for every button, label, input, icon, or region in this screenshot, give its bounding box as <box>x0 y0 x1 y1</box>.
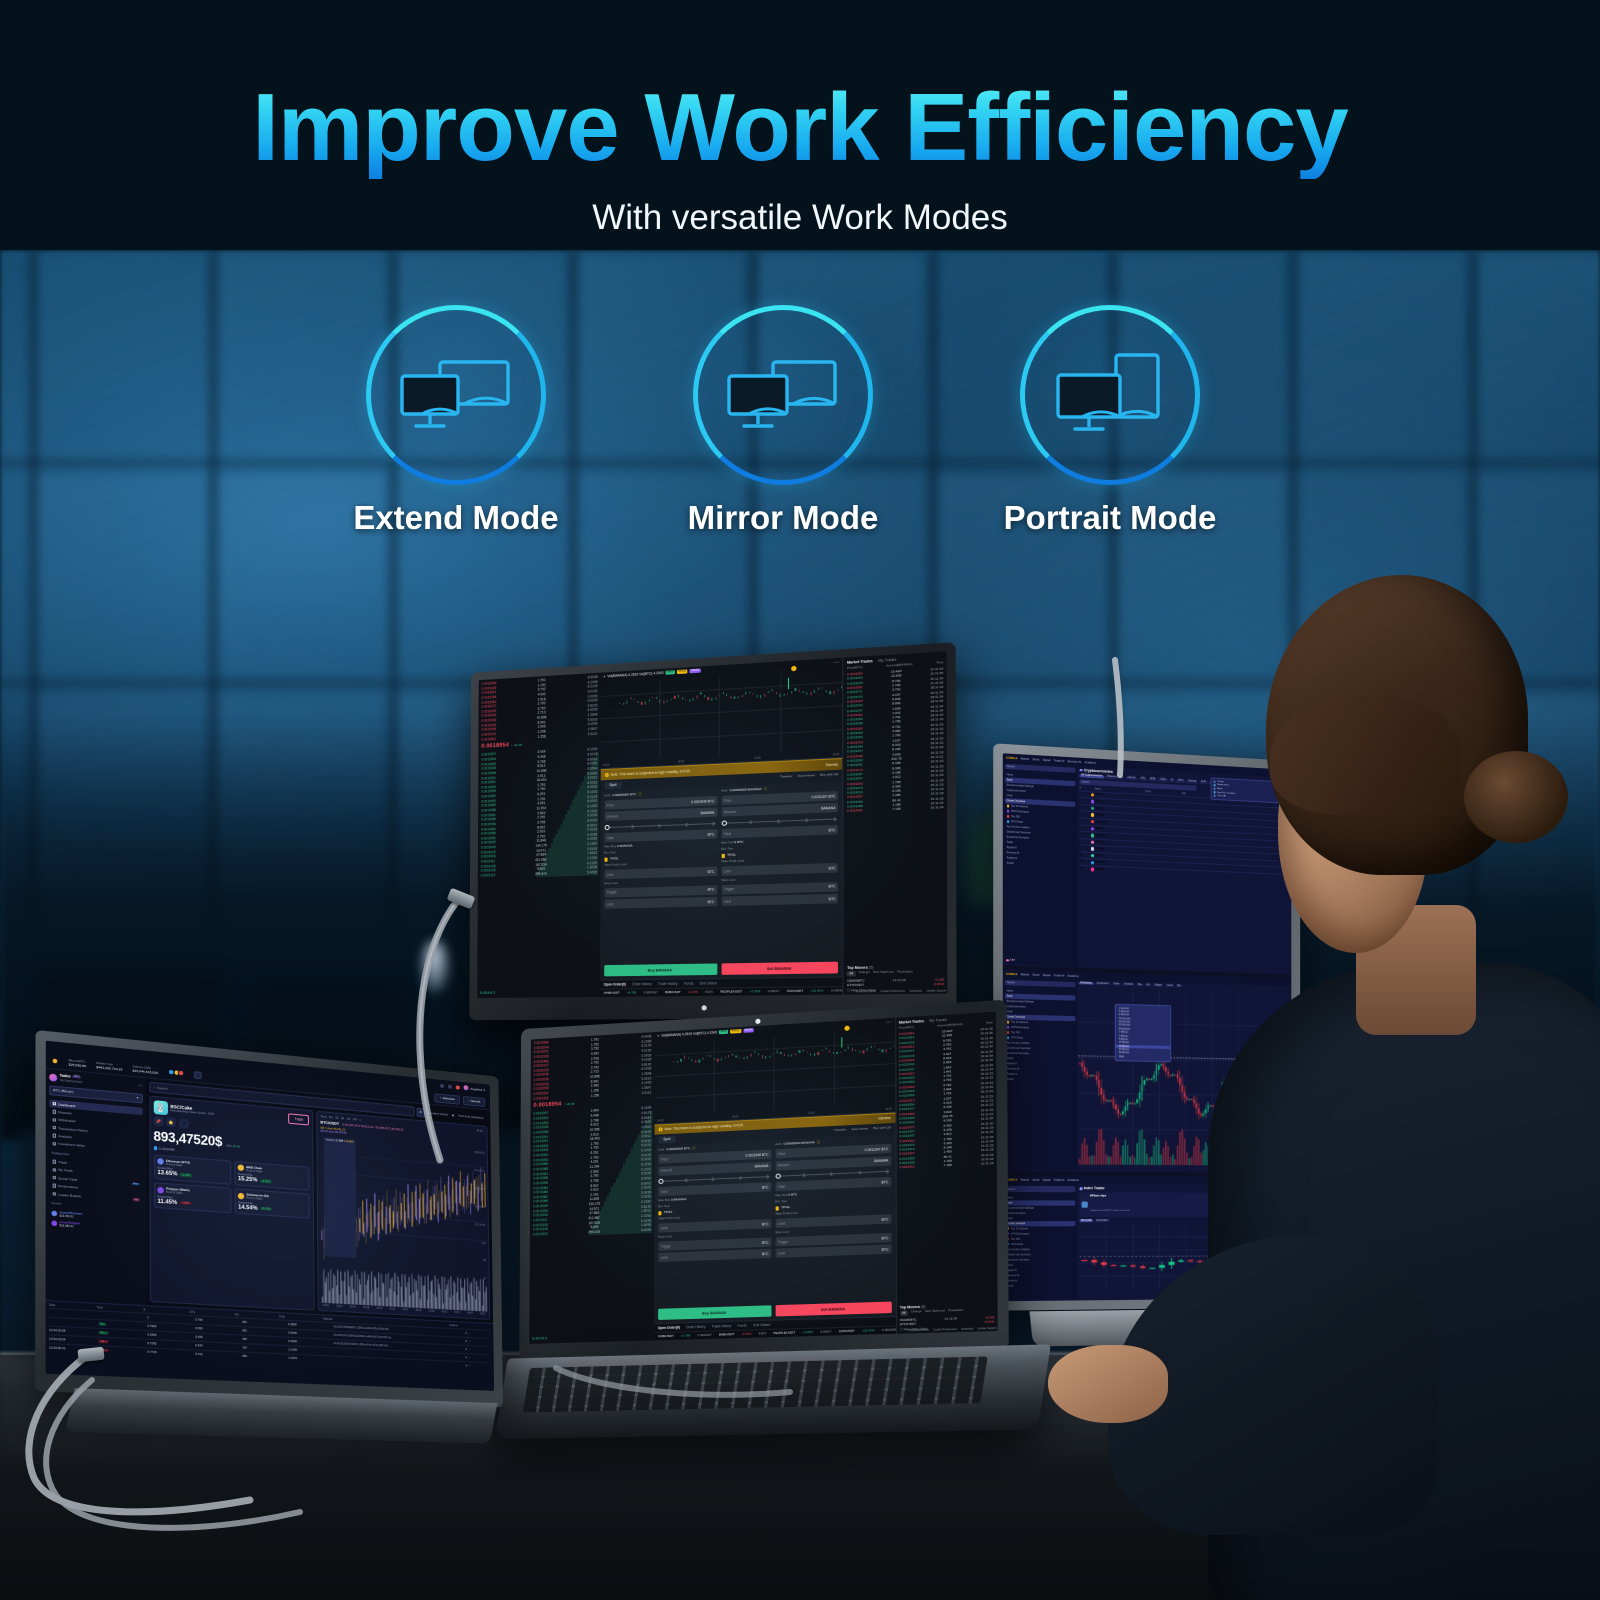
order-field[interactable]: Limit BTC <box>604 867 717 880</box>
warning-icon: ! <box>604 773 608 777</box>
avatar <box>463 1085 468 1091</box>
withdraw-icon: ↑ <box>440 1096 442 1100</box>
star-icon[interactable]: ⭐ <box>166 1117 176 1127</box>
index-icon <box>1080 1187 1083 1190</box>
more-icon[interactable]: ••• <box>139 1083 143 1088</box>
pm-chart-chip[interactable]: All Markets <box>1078 982 1093 985</box>
volume-pill: Volume (2) 608 1.4%(M) <box>324 1137 357 1258</box>
footer-tab[interactable]: Open Order(0) <box>658 1326 680 1331</box>
buy-submit-button[interactable]: Buy BANANA <box>604 964 717 977</box>
sell-order-panel: Avbl0.00000000 BANANAⓘ Price0.0011347 BT… <box>775 1137 891 1316</box>
pm-menu-stock[interactable]: Stock <box>1032 758 1039 762</box>
tab-autoinvest[interactable]: Auto-Invest <box>798 774 815 779</box>
pm-trader-sub: Cryptocurrency AI BTC // Announcements <box>1090 1210 1130 1212</box>
portable-monitor-bezel: Angelina ▾ Bitcoin/BTC $25,550.60 <box>35 1030 503 1407</box>
pm-menu-servicesai[interactable]: Services AI <box>1067 760 1081 764</box>
order-field[interactable]: Total BTC <box>604 829 717 842</box>
stake-card[interactable]: Polygon (Matic)Proof of Stake Reward Rat… <box>154 1182 232 1213</box>
dashboard-content: ⌕ Search ⌘ Standard (chart) ◉ Technical … <box>146 1078 494 1323</box>
coin-icon-3 <box>178 1070 185 1077</box>
upload-icon <box>52 1118 56 1122</box>
pm2-menu-tradeai[interactable]: Trade AI <box>1054 974 1065 977</box>
pm-user-avatar <box>1006 959 1009 962</box>
bell-icon[interactable] <box>448 1084 452 1088</box>
bars-icon <box>52 1184 56 1188</box>
page-subtitle: With versatile Work Modes <box>0 198 1600 238</box>
footer-link[interactable]: Update Support <box>926 990 946 994</box>
grid-icon <box>52 1102 56 1106</box>
filter-button[interactable]: ⌘ <box>416 1107 425 1117</box>
clock-icon <box>52 1110 56 1114</box>
pm-logo: COIN-X <box>1006 756 1017 761</box>
coin-icon <box>238 1192 244 1199</box>
cake-token-icon: 🐰 <box>153 1100 167 1115</box>
order-field[interactable]: Limit BTC <box>775 1245 891 1258</box>
laptop-screen: 0.00193841.7918.94380.00192491.7928.1098… <box>529 1012 997 1344</box>
coin-bubbles <box>170 1069 184 1077</box>
wallet-icon <box>52 1142 56 1146</box>
market-trades-panel: Market Trades My Trades Price(BTC)Amount… <box>843 651 948 994</box>
pm2-menu-market[interactable]: Market <box>1021 973 1030 976</box>
order-field[interactable]: Total BTC <box>721 825 838 839</box>
stat-volume: Volume (24h) $23,044,415,620 <box>132 1064 158 1075</box>
extend-mode-icon <box>396 356 516 434</box>
order-field[interactable]: Trigger BTC <box>604 885 717 897</box>
user-icon <box>52 1168 56 1172</box>
pm-menu-signal[interactable]: Signal <box>1043 758 1051 762</box>
price-chart-card: Time5m1h4h1D1W▾ ⧉ ⚙ ⛶ BTC/USDT O 66,236.… <box>317 1110 491 1320</box>
brand-logo-icon <box>49 1073 57 1081</box>
btc-icon <box>52 1057 59 1064</box>
tab-my-trades: My Trades <box>878 657 896 663</box>
dashboard-sidebar: Tadeo PRO Top Staking Assets ••• BTC (Bi… <box>46 1069 146 1305</box>
stat-bitcoin-value: $25,550.60 <box>69 1063 87 1069</box>
laptop: 0.00193841.7918.94380.00192491.7928.1098… <box>520 1028 1020 1448</box>
mode-portrait-label: Portrait Mode <box>960 499 1260 537</box>
dismiss-link[interactable]: Dismiss <box>878 1116 890 1121</box>
user-name: Angelina <box>470 1086 482 1091</box>
buy-order-panel: Avbl0.00000000 BTCⓘ Price0.0011549 BTC A… <box>658 1143 771 1320</box>
laptop-camera <box>755 1019 760 1024</box>
volume-delta: 1.4%(M) <box>344 1140 354 1144</box>
toggle-technical-analytics[interactable]: Technical (analytics) <box>458 1114 483 1120</box>
tab-spot[interactable]: Spot <box>604 781 621 789</box>
withdraw-button[interactable]: ↑ Withdraw <box>435 1093 460 1104</box>
pm-logo-2: COIN-X <box>1006 972 1017 977</box>
tab-transfer[interactable]: Transfer <box>780 775 792 780</box>
stat-bitcoin: Bitcoin/BTC $25,550.60 <box>69 1058 87 1069</box>
footer-link[interactable]: Announcements <box>856 990 876 994</box>
footer-link[interactable]: Download <box>961 1328 973 1332</box>
footer-tab[interactable]: Open Order(0) <box>604 983 626 987</box>
grid-view-button[interactable] <box>194 1071 202 1079</box>
token-change-value: +5.74 <box>232 1143 240 1148</box>
footer-tab[interactable]: Trade History <box>712 1324 732 1329</box>
buy-submit-button[interactable]: Buy BANANA <box>658 1306 771 1321</box>
history-icon <box>52 1126 56 1130</box>
pm3-menu-tradeai[interactable]: Trade AI <box>1054 1179 1065 1182</box>
pm3-menu-academy[interactable]: Academy <box>1067 1179 1079 1182</box>
chart-marker <box>843 1024 850 1032</box>
footer-link[interactable]: Cookie Preferences <box>933 1328 957 1332</box>
pm-chart-chip[interactable]: My <box>1145 984 1151 987</box>
pm-chart-chip[interactable]: Dashboard <box>1095 982 1110 985</box>
tab-autoinvest[interactable]: Auto-Invest <box>851 1128 868 1133</box>
laptop-base <box>495 1344 1051 1439</box>
token-sub-price-value: 0.2826488 <box>159 1146 175 1152</box>
footer-link[interactable]: Announcements <box>909 1329 928 1333</box>
stat-marketcap: Market Cap $443,235,710.19 <box>96 1060 122 1071</box>
crypto-icon <box>1080 769 1083 772</box>
search-placeholder: Search <box>157 1086 167 1091</box>
price-chart: ▾Vol(BANANA) 4.2519 Vol(BTC) 4.1543 MA5 … <box>654 1018 895 1124</box>
mirror-mode-circle <box>693 305 873 485</box>
footer-tab[interactable]: Funds <box>738 1324 747 1328</box>
volume-label: Volume (2) <box>326 1138 338 1142</box>
pm-chip[interactable]: USDL <box>1158 779 1168 782</box>
page-title: Improve Work Efficiency <box>0 78 1600 179</box>
portable-monitor: Angelina ▾ Bitcoin/BTC $25,550.60 <box>60 1078 530 1468</box>
brand-badge: PRO <box>72 1075 81 1078</box>
chevron-down-icon: ▾ <box>137 1096 139 1100</box>
deposit-label: Deposit <box>470 1099 480 1104</box>
pm-menu-market[interactable]: Market <box>1021 757 1030 761</box>
main-monitor-bezel: 0.00193841.7918.94380.00192491.7928.1098… <box>469 642 956 1020</box>
orderbook: 0.00193841.7918.94380.00192491.7928.1098… <box>477 673 600 998</box>
work-modes: Extend Mode Mirror Mode <box>0 305 1600 555</box>
sell-submit-button[interactable]: Sell BANANA <box>775 1302 891 1317</box>
pm-chip[interactable]: NFTs <box>1176 780 1185 783</box>
lamp-blur <box>420 940 450 992</box>
pm-chart-chip[interactable]: Bet <box>1176 985 1183 988</box>
pm-chip[interactable]: AI <box>1169 779 1174 782</box>
crypto-dashboard: Angelina ▾ Bitcoin/BTC $25,550.60 <box>46 1041 495 1391</box>
pm-sidebar: Search Home Tools Recommended Settings C… <box>1003 762 1077 967</box>
main-monitor-screen: 0.00193841.7918.94380.00192491.7928.1098… <box>477 651 947 998</box>
marketing-slide: Improve Work Efficiency With versatile W… <box>0 0 1600 1600</box>
warning-icon: ! <box>658 1127 662 1131</box>
footer-link[interactable]: Update Support <box>978 1327 997 1331</box>
pm-menu-tradeai[interactable]: Trade AI <box>1054 759 1065 763</box>
laptop-lid: 0.00193841.7918.94380.00192491.7928.1098… <box>519 1000 1008 1359</box>
pm-crypto-title-text: Cryptocurrencies <box>1084 768 1113 774</box>
alert-icon[interactable] <box>456 1085 460 1089</box>
coin-icon <box>238 1165 244 1172</box>
dismiss-link[interactable]: Dismiss <box>826 762 839 767</box>
tab-market-trades: Market Trades <box>847 658 873 664</box>
trade-button[interactable]: Trade <box>288 1114 309 1125</box>
tab-buywith[interactable]: Buy with Qtl <box>873 1127 891 1132</box>
pm2-menu-signal[interactable]: Signal <box>1043 973 1051 976</box>
stake-card[interactable]: BNB ChainProof of Stake Reward Rate 15.2… <box>234 1160 310 1191</box>
pm-interval-dropdown[interactable]: 1 Second5 Second9 Second15 Second30 Seco… <box>1115 1004 1171 1062</box>
trophy-icon <box>52 1192 56 1196</box>
mode-extend-label: Extend Mode <box>306 499 606 537</box>
footer-tab[interactable]: Order History <box>686 1325 705 1330</box>
pm2-menu-academy[interactable]: Academy <box>1067 974 1079 977</box>
chart-symbol: BTC/USDT <box>320 1120 339 1126</box>
footer-tab[interactable]: Order History <box>632 982 652 986</box>
pm-index-title-text: Index Trader <box>1084 1187 1105 1191</box>
order-field[interactable]: Limit BTC <box>721 863 838 876</box>
buy-order-panel: Avbl0.00000000 BTCⓘ Price0.0011549 BTC A… <box>604 789 717 976</box>
order-field[interactable]: Trigger BTC <box>721 882 838 895</box>
sell-order-panel: Avbl0.00000000 BANANAⓘ Price0.0011347 BT… <box>721 784 838 975</box>
pm-user-name: Luvi <box>1010 959 1014 961</box>
token-contract: PancakeSwap Token 0x23A...4378 <box>170 1109 214 1116</box>
market-trades-panel: Market Trades My Trades Price(BTC)Amount… <box>895 1012 998 1334</box>
coin-icon <box>157 1186 164 1193</box>
pm-trader-name: William okpe <box>1090 1194 1130 1197</box>
person-at-desk <box>1228 575 1600 1600</box>
usbc-plug-portable[interactable] <box>77 1347 104 1363</box>
brand-subtitle: Top Staking Assets <box>60 1079 83 1084</box>
coin-icon <box>157 1158 164 1165</box>
tab-transfer[interactable]: Transfer <box>834 1129 846 1134</box>
footer-tab[interactable]: Trade History <box>658 982 678 986</box>
tab-my-trades: My Trades <box>929 1017 947 1023</box>
pm-chip[interactable]: Binance Chain <box>1106 776 1125 780</box>
chart-marker <box>790 664 798 672</box>
footer-tab[interactable]: Grid Orders <box>753 1323 770 1328</box>
pm-chip[interactable]: BNB <box>1149 778 1157 781</box>
volume-value: 608 <box>339 1139 343 1142</box>
share-icon <box>52 1176 56 1180</box>
eth-icon <box>153 1146 157 1150</box>
price-chart: ▾Vol(BANANA) 4.2519 Vol(BTC) 4.1543 MA5 … <box>600 658 842 770</box>
order-field[interactable]: Limit BTC <box>721 894 838 906</box>
portrait-mode-icon <box>1054 353 1166 437</box>
pm-chart-chip[interactable]: Widget <box>1153 984 1164 987</box>
toggle-switch[interactable]: ◉ <box>452 1113 455 1117</box>
tab-market-trades: Market Trades <box>899 1019 924 1025</box>
pm-chip-btcusdt[interactable]: BTC/USDT <box>1095 1220 1110 1223</box>
pm-chip-btcusd[interactable]: BTC/USD <box>1080 1220 1094 1223</box>
pm-dropdown-item[interactable]: Days <box>1116 1055 1169 1060</box>
person-hair-bun <box>1464 751 1568 843</box>
stake-card[interactable]: Ethereum (ETH)Proof of Stake Reward Rate… <box>153 1154 231 1185</box>
pm3-menu-signal[interactable]: Signal <box>1043 1179 1051 1182</box>
pm-menu-academy[interactable]: Academy <box>1084 761 1096 765</box>
pin-icon[interactable]: 📌 <box>153 1116 163 1126</box>
mode-mirror[interactable]: Mirror Mode <box>633 305 933 537</box>
staking-cards: Ethereum (ETH)Proof of Stake Reward Rate… <box>153 1154 310 1219</box>
footer-link[interactable]: Cookie Preferences <box>880 990 905 994</box>
pm-chip[interactable]: Gaming <box>1187 780 1198 783</box>
toggle-standard-chart[interactable]: Standard (chart) <box>427 1111 448 1117</box>
extend-mode-circle <box>366 305 546 485</box>
pm-chip[interactable]: DeFi <box>1199 781 1207 784</box>
trade-icon <box>52 1160 56 1164</box>
portable-monitor-screen: Angelina ▾ Bitcoin/BTC $25,550.60 <box>46 1041 495 1391</box>
deposit-button[interactable]: ↓ Deposit <box>463 1095 486 1106</box>
withdraw-label: Withdraw <box>442 1096 454 1101</box>
pm-chart-chip[interactable]: Trend <box>1165 984 1174 987</box>
footer-link[interactable]: Download <box>909 990 922 993</box>
share-icon[interactable]: ⤴ <box>179 1118 189 1128</box>
tab-buywith[interactable]: Buy with Qtl <box>820 773 838 778</box>
token-change-label: 24h <box>226 1143 231 1148</box>
chart-icon <box>52 1134 56 1138</box>
token-card: 🐰 BSC/Cake PancakeSwap Token 0x23A...437… <box>149 1095 315 1311</box>
brand-name: Tadeo <box>60 1073 71 1078</box>
mode-mirror-label: Mirror Mode <box>633 499 933 537</box>
pm-chart-chip[interactable]: Portfolio <box>1123 983 1135 986</box>
chevron-down-icon: ▾ <box>483 1088 485 1092</box>
user-menu[interactable]: Angelina ▾ <box>463 1085 485 1093</box>
chart-plot: 65,500.0065,414.2165,404.9165,344.0065,2… <box>320 1135 486 1312</box>
pm-chip[interactable]: All Cryptocurrencies <box>1080 774 1105 778</box>
sell-submit-button[interactable]: Sell BANANA <box>721 962 838 975</box>
tab-spot[interactable]: Spot <box>658 1135 675 1143</box>
pm-search-input-2[interactable]: Search <box>1005 980 1075 988</box>
stake-card[interactable]: Solanacoin (Sl)Proof of Stake Reward Rat… <box>234 1188 310 1218</box>
pm-chart-chip[interactable]: Trade <box>1112 983 1121 986</box>
portrait-mode-circle <box>1020 305 1200 485</box>
coin-selector-value: BTC (Bitcoin) <box>53 1088 73 1094</box>
mode-extend[interactable]: Extend Mode <box>306 305 606 537</box>
footer-tab[interactable]: Grid Orders <box>699 982 717 986</box>
mirror-mode-icon <box>723 356 843 434</box>
order-field[interactable]: Limit BTC <box>658 1249 771 1262</box>
search-icon: ⌕ <box>153 1085 155 1089</box>
search-icon[interactable] <box>440 1083 444 1087</box>
trader-avatar <box>1082 1202 1088 1208</box>
order-field[interactable]: Limit BTC <box>604 897 717 909</box>
orderbook: 0.00193841.7918.94380.00192491.7928.1098… <box>529 1032 654 1344</box>
pm-chip[interactable]: XRC <box>1139 777 1147 780</box>
monitor-led <box>701 1005 706 1010</box>
footer-tab[interactable]: Funds <box>684 982 693 986</box>
pm-chart-chip[interactable]: Buy <box>1136 983 1143 986</box>
pm2-menu-stock[interactable]: Stock <box>1032 973 1039 976</box>
pm-chip[interactable]: Filecoin <box>1126 777 1137 780</box>
mode-portrait[interactable]: Portrait Mode <box>960 305 1260 537</box>
person-hand <box>1048 1345 1168 1423</box>
deposit-icon: ↓ <box>467 1098 469 1102</box>
